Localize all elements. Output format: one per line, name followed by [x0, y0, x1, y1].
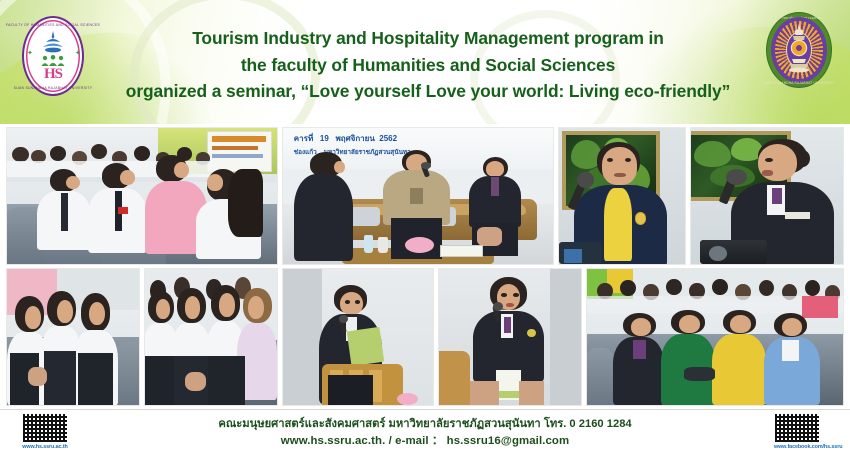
photo-large-audience-colorful[interactable] — [586, 268, 844, 406]
seminar-poster: FACULTY OF HUMANITIES AND SOCIAL SCIENCE… — [0, 0, 850, 453]
footer-faculty-thai-line: คณะมนุษยศาสตร์และสังคมศาสตร์ มหาวิทยาลัย… — [96, 416, 754, 433]
footer-contact-block: คณะมนุษยศาสตร์และสังคมศาสตร์ มหาวิทยาลัย… — [96, 416, 754, 450]
photo-panel-discussion-stage[interactable]: คารที่ 19 พฤศจิกายน 2562 ช่องแก้ว มหาวิท… — [282, 127, 554, 265]
poster-footer: www.hs.ssru.ac.th คณะมนุษยศาสตร์และสังคม… — [0, 409, 850, 453]
royal-crown-icon — [784, 23, 814, 77]
qr-code-website-caption: www.hs.ssru.ac.th — [22, 444, 68, 450]
photo-female-students-white-uniform[interactable] — [6, 268, 140, 406]
footer-contact-line: www.hs.ssru.ac.th. / e-mail ： hs.ssru16@… — [96, 433, 754, 450]
crown-icon — [38, 30, 68, 56]
photo-male-speaker-navy-blazer[interactable] — [558, 127, 686, 265]
qr-code-facebook-caption: www.facebook.com/hs.ssru — [774, 444, 820, 450]
qr-code-facebook-image[interactable] — [774, 413, 820, 443]
photo-students-smiling-row[interactable] — [144, 268, 278, 406]
photo-gallery: คารที่ 19 พฤศจิกายน 2562 ช่องแก้ว มหาวิท… — [0, 124, 850, 409]
photo-student-reading-green-folder[interactable] — [282, 268, 434, 406]
poster-header: FACULTY OF HUMANITIES AND SOCIAL SCIENCE… — [0, 0, 850, 124]
qr-code-facebook[interactable]: www.facebook.com/hs.ssru — [774, 413, 820, 450]
qr-code-website[interactable]: www.hs.ssru.ac.th — [22, 413, 68, 450]
title-line-1: Tourism Industry and Hospitality Managem… — [192, 26, 664, 51]
university-seal-arc-bottom: SUAN SUNANDHA RAJABHAT UNIVERSITY — [763, 81, 834, 85]
photo-audience-students-seated[interactable] — [6, 127, 278, 265]
qr-code-website-image[interactable] — [22, 413, 68, 443]
photo-female-student-microphone[interactable] — [438, 268, 582, 406]
poster-title: Tourism Industry and Hospitality Managem… — [92, 14, 764, 116]
banner-date-label: คารที่ 19 พฤศจิกายน 2562 — [294, 132, 397, 145]
gallery-row-bottom — [6, 268, 844, 406]
faculty-seal-logo: FACULTY OF HUMANITIES AND SOCIAL SCIENCE… — [22, 16, 84, 96]
faculty-seal-arc-top: FACULTY OF HUMANITIES AND SOCIAL SCIENCE… — [6, 23, 100, 27]
title-line-3: organized a seminar, “Love yourself Love… — [126, 79, 730, 104]
photo-female-speaker-podium[interactable] — [690, 127, 844, 265]
university-seal-logo: มหาวิทยาลัยราชภัฏสวนสุนันทา SUAN SUNANDH… — [766, 12, 832, 88]
seal-dot-left: ✦ — [27, 52, 31, 56]
faculty-seal-monogram: HS — [44, 66, 62, 83]
title-line-2: the faculty of Humanities and Social Sci… — [241, 53, 615, 78]
seal-dot-right: ✦ — [75, 52, 79, 56]
faculty-seal-arc-bottom: SUAN SUNANDHA RAJABHAT UNIVERSITY — [14, 86, 93, 90]
banner-venue-label: ช่องแก้ว มหาวิทยาลัยราชภัฏสวนสุนันทา — [294, 147, 411, 157]
gallery-row-top: คารที่ 19 พฤศจิกายน 2562 ช่องแก้ว มหาวิท… — [6, 127, 844, 265]
